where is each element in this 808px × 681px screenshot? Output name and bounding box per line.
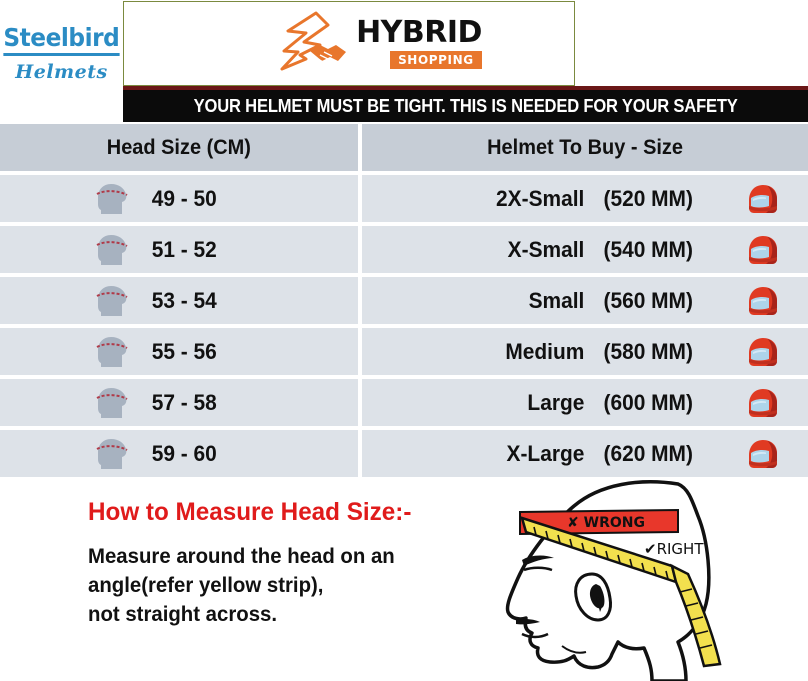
table-row: 49 - 50 2X-Small (520 MM) <box>0 175 808 222</box>
measure-line-3: not straight across. <box>88 601 476 630</box>
cell-head-size: 53 - 54 <box>0 277 358 324</box>
table-row: 53 - 54 Small (560 MM) <box>0 277 808 324</box>
header-cell-head-size: Head Size (CM) <box>0 124 358 171</box>
head-size-value: 49 - 50 <box>152 186 217 212</box>
helmet-size-name: 2X-Small <box>446 186 585 212</box>
head-measuring-diagram: ✘ WRONG <box>500 470 808 681</box>
head-measure-icon <box>92 386 132 420</box>
helmet-size-mm: (540 MM) <box>604 237 737 263</box>
measure-line-2: angle(refer yellow strip), <box>88 572 476 601</box>
helmet-icon <box>746 182 780 216</box>
table-row: 51 - 52 X-Small (540 MM) <box>0 226 808 273</box>
helmet-size-name: Medium <box>446 339 585 365</box>
cell-helmet-size: Large (600 MM) <box>362 379 808 426</box>
measure-section: How to Measure Head Size:- Measure aroun… <box>0 470 808 681</box>
helmet-size-mm: (620 MM) <box>604 441 737 467</box>
cell-helmet-size: X-Small (540 MM) <box>362 226 808 273</box>
helmet-icon <box>746 386 780 420</box>
helmet-size-mm: (600 MM) <box>604 390 737 416</box>
head-size-value: 57 - 58 <box>152 390 217 416</box>
helmet-size-mm: (520 MM) <box>604 186 737 212</box>
column-header-helmet-size: Helmet To Buy - Size <box>487 136 683 160</box>
safety-banner: YOUR HELMET MUST BE TIGHT. THIS IS NEEDE… <box>123 86 808 122</box>
cell-head-size: 51 - 52 <box>0 226 358 273</box>
column-header-head-size: Head Size (CM) <box>107 136 251 160</box>
helmet-size-name: Small <box>446 288 585 314</box>
header-cell-helmet-size: Helmet To Buy - Size <box>362 124 808 171</box>
helmet-size-chart: Steelbird Helmets HYBRID SHOPPING YOUR H… <box>0 0 808 681</box>
helmet-icon <box>746 335 780 369</box>
brand-subtitle: Helmets <box>15 61 107 83</box>
head-measure-icon <box>92 182 132 216</box>
brand-name: Steelbird <box>4 25 120 55</box>
head-measure-icon <box>92 437 132 471</box>
measure-instructions: How to Measure Head Size:- Measure aroun… <box>82 498 482 630</box>
head-size-value: 59 - 60 <box>152 441 217 467</box>
table-header-row: Head Size (CM) Helmet To Buy - Size <box>0 124 808 171</box>
hybrid-shopping-logo: HYBRID SHOPPING <box>123 1 575 86</box>
cell-head-size: 49 - 50 <box>0 175 358 222</box>
cell-helmet-size: Small (560 MM) <box>362 277 808 324</box>
helmet-icon <box>746 233 780 267</box>
head-size-value: 55 - 56 <box>152 339 217 365</box>
table-row: 57 - 58 Large (600 MM) <box>0 379 808 426</box>
helmet-size-name: X-Small <box>446 237 585 263</box>
cell-head-size: 55 - 56 <box>0 328 358 375</box>
head-size-value: 53 - 54 <box>152 288 217 314</box>
helmet-size-mm: (560 MM) <box>604 288 737 314</box>
header: Steelbird Helmets HYBRID SHOPPING YOUR H… <box>0 0 808 122</box>
size-table: Head Size (CM) Helmet To Buy - Size 49 -… <box>0 124 808 481</box>
helmet-size-name: X-Large <box>446 441 585 467</box>
steelbird-logo: Steelbird Helmets <box>0 0 123 108</box>
head-size-value: 51 - 52 <box>152 237 217 263</box>
hybrid-title: HYBRID <box>356 18 482 48</box>
helmet-size-name: Large <box>446 390 585 416</box>
cell-helmet-size: Medium (580 MM) <box>362 328 808 375</box>
head-measure-icon <box>92 284 132 318</box>
table-row: 55 - 56 Medium (580 MM) <box>0 328 808 375</box>
measure-title: How to Measure Head Size:- <box>88 498 476 527</box>
wrong-label: ✘ WRONG <box>567 515 645 531</box>
handshake-lightning-icon <box>276 11 354 77</box>
shopping-badge: SHOPPING <box>390 51 482 69</box>
head-measure-icon <box>92 233 132 267</box>
cell-helmet-size: 2X-Small (520 MM) <box>362 175 808 222</box>
safety-banner-text: YOUR HELMET MUST BE TIGHT. THIS IS NEEDE… <box>193 96 737 117</box>
head-measure-icon <box>92 335 132 369</box>
helmet-size-mm: (580 MM) <box>604 339 737 365</box>
right-label: ✔RIGHT <box>644 540 704 558</box>
helmet-icon <box>746 284 780 318</box>
cell-head-size: 57 - 58 <box>0 379 358 426</box>
measure-line-1: Measure around the head on an <box>88 543 476 572</box>
helmet-icon <box>746 437 780 471</box>
